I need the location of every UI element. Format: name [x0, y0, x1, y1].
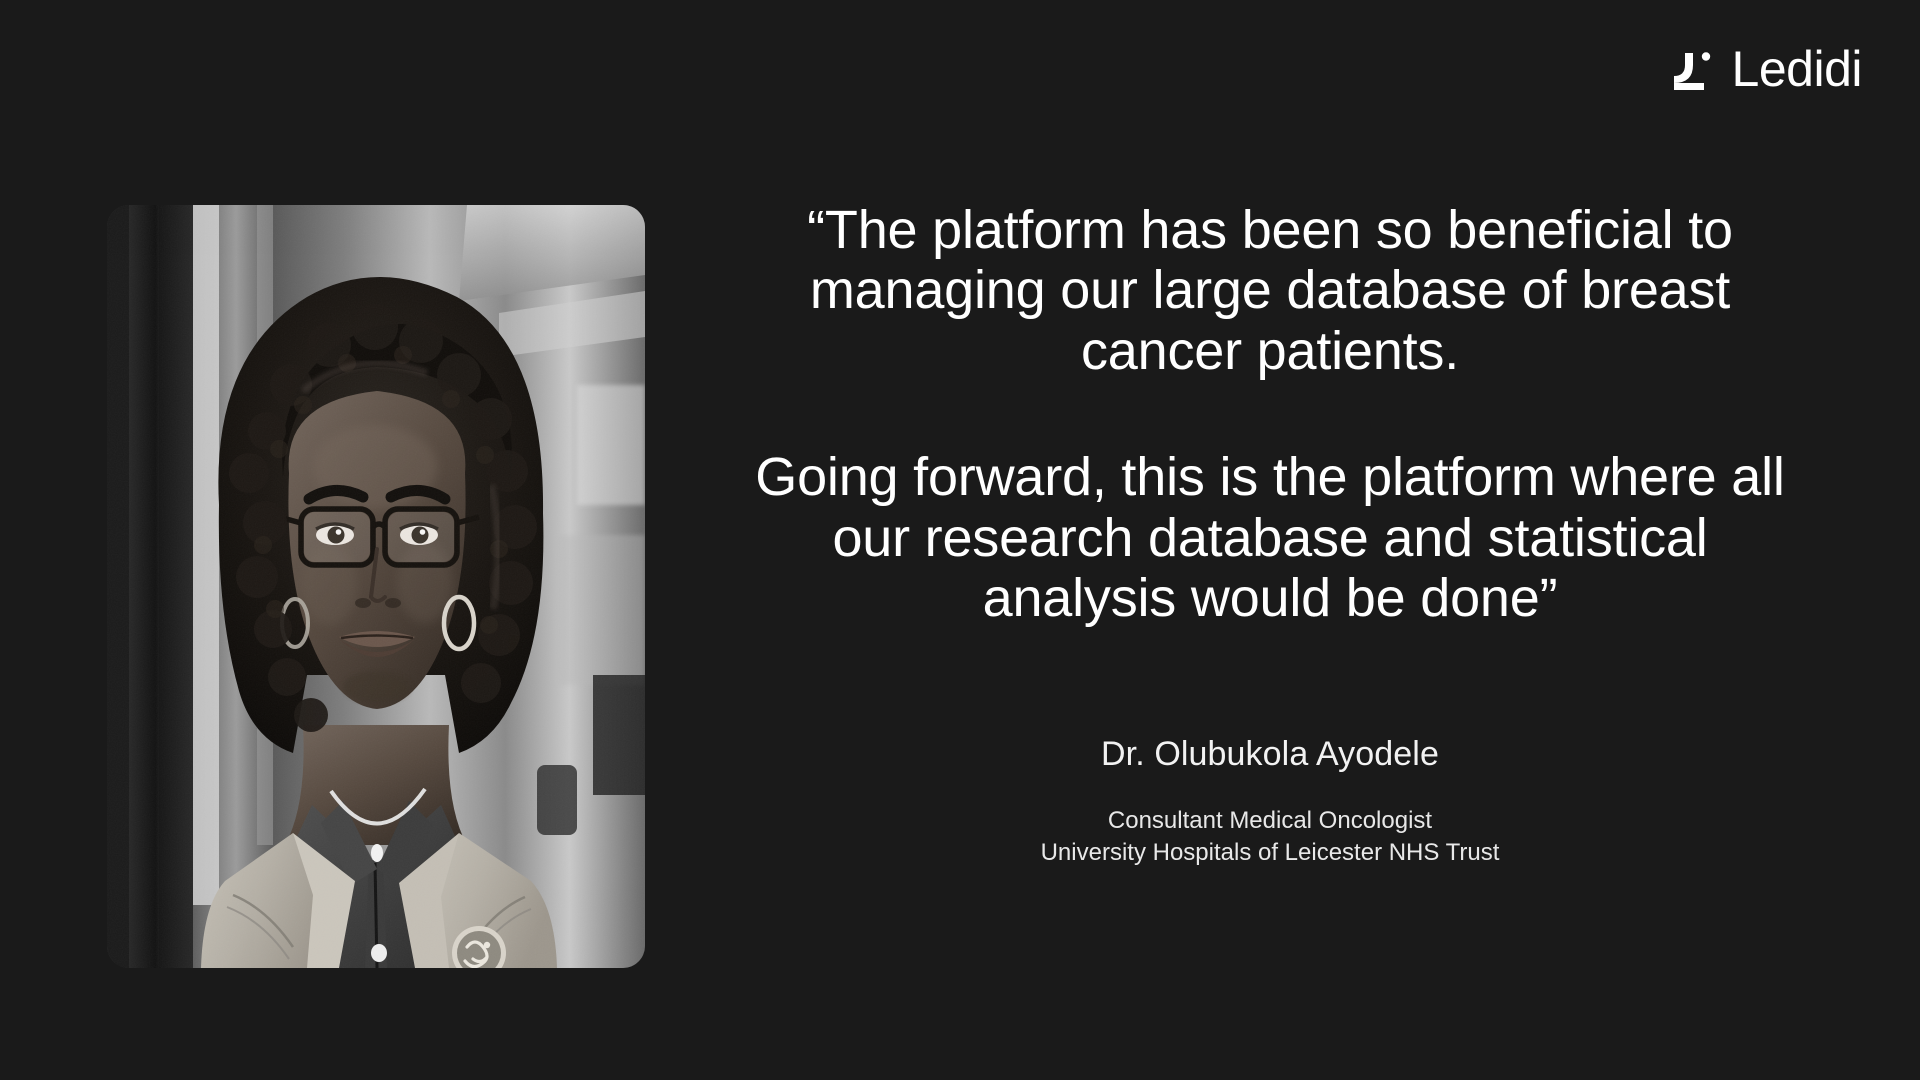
testimonial-slide: Ledidi	[0, 0, 1920, 1080]
quote-paragraph-2: Going forward, this is the platform wher…	[740, 447, 1800, 628]
attribution-block: Dr. Olubukola Ayodele Consultant Medical…	[740, 733, 1800, 869]
brand-logo: Ledidi	[1668, 44, 1862, 94]
quote-paragraph-1: “The platform has been so beneficial to …	[740, 200, 1800, 381]
attribution-role: Consultant Medical Oncologist	[740, 805, 1800, 837]
attribution-details: Consultant Medical Oncologist University…	[740, 805, 1800, 868]
brand-wordmark: Ledidi	[1732, 44, 1862, 94]
attribution-name: Dr. Olubukola Ayodele	[740, 733, 1800, 776]
speaker-portrait	[107, 205, 645, 968]
quote-column: “The platform has been so beneficial to …	[740, 200, 1800, 869]
quote-text: “The platform has been so beneficial to …	[740, 200, 1800, 629]
attribution-organisation: University Hospitals of Leicester NHS Tr…	[740, 837, 1800, 869]
quote-paragraph-spacer	[740, 381, 1800, 447]
ledidi-l-mark-icon	[1668, 45, 1716, 93]
portrait-illustration	[107, 205, 645, 968]
